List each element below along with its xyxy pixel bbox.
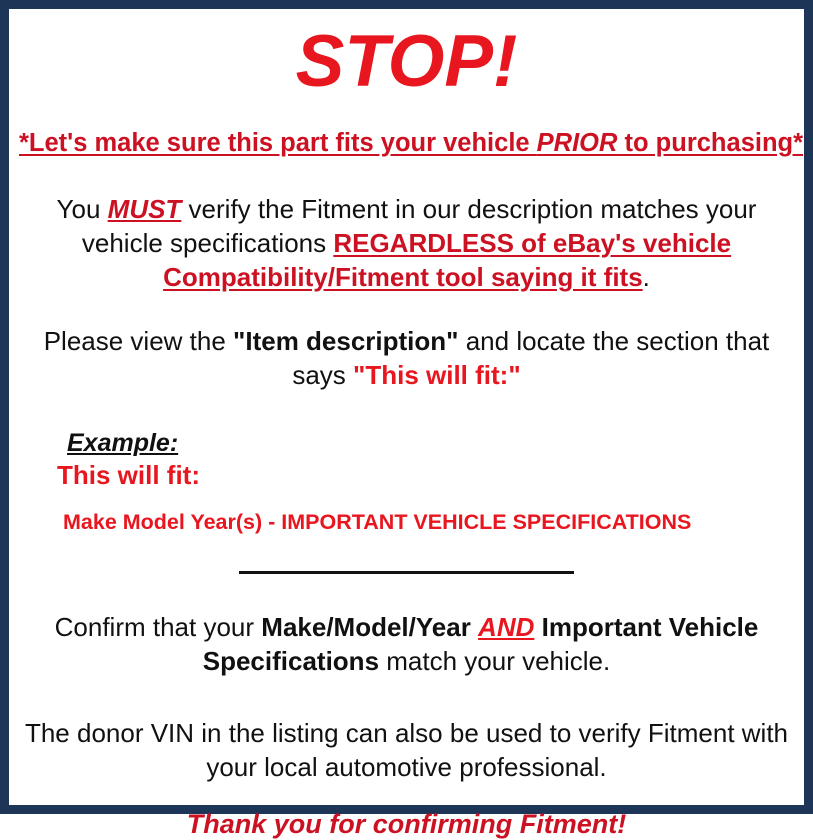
desc-seg1: Please view the [44, 326, 233, 356]
paragraph-item-description: Please view the "Item description" and l… [22, 295, 792, 393]
paragraph-confirm: Confirm that your Make/Model/Year AND Im… [32, 581, 782, 679]
fitment-notice-card: STOP! *Let's make sure this part fits yo… [0, 0, 813, 814]
example-fit-heading: This will fit: [57, 458, 794, 491]
divider-container [19, 534, 794, 581]
subtitle-after: to purchasing* [617, 129, 803, 157]
stop-headline: STOP! [19, 9, 794, 98]
thank-you-line: Thank you for confirming Fitment! [19, 785, 794, 840]
subtitle-prior-emphasis: PRIOR [537, 129, 618, 157]
item-description-bold: "Item description" [233, 326, 458, 356]
subtitle-before: *Let's make sure this part fits your veh… [19, 129, 537, 157]
must-seg1: You [57, 194, 108, 224]
horizontal-divider [239, 571, 574, 574]
notice-content-area: STOP! *Let's make sure this part fits yo… [9, 9, 804, 805]
this-will-fit-quote: "This will fit:" [353, 360, 521, 390]
subtitle-line: *Let's make sure this part fits your veh… [19, 98, 794, 158]
must-emphasis: MUST [108, 194, 182, 224]
paragraph-must-verify: You MUST verify the Fitment in our descr… [27, 158, 787, 294]
example-block: Example: This will fit: Make Model Year(… [19, 392, 794, 534]
example-label: Example: [67, 430, 178, 458]
example-spec-line: Make Model Year(s) - IMPORTANT VEHICLE S… [57, 491, 794, 535]
make-model-year-bold: Make/Model/Year [261, 612, 478, 642]
confirm-seg2: match your vehicle. [379, 646, 610, 676]
confirm-seg1: Confirm that your [55, 612, 262, 642]
must-seg3: . [643, 262, 650, 292]
and-emphasis: AND [478, 612, 534, 642]
paragraph-donor-vin: The donor VIN in the listing can also be… [22, 679, 792, 785]
